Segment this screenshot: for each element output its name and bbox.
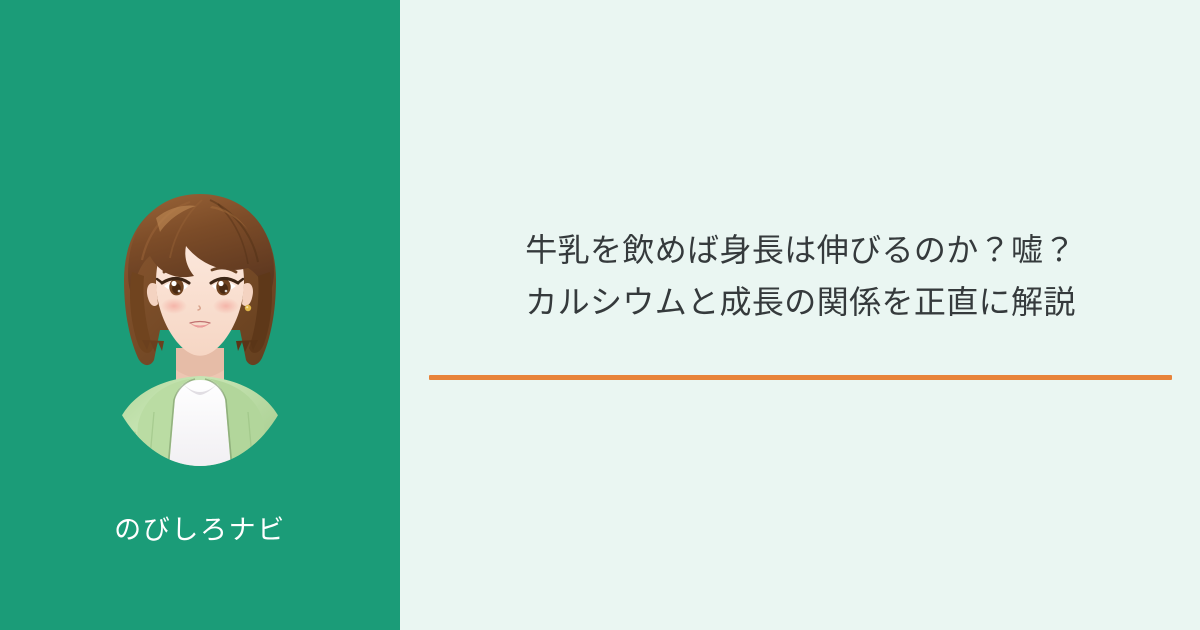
brand-panel: のびしろナビ [0, 0, 400, 630]
article-title: 牛乳を飲めば身長は伸びるのか？嘘？ カルシウムと成長の関係を正直に解説 [429, 225, 1172, 329]
article-title-line-1: 牛乳を飲めば身長は伸びるのか？嘘？ [429, 225, 1172, 277]
brand-name: のびしろナビ [0, 514, 400, 546]
article-title-line-2: カルシウムと成長の関係を正直に解説 [429, 277, 1172, 329]
female-character-avatar-icon [98, 180, 302, 466]
content-panel: 牛乳を飲めば身長は伸びるのか？嘘？ カルシウムと成長の関係を正直に解説 [400, 0, 1200, 630]
accent-divider [429, 375, 1172, 380]
ogp-card: のびしろナビ 牛乳を飲めば身長は伸びるのか？嘘？ カルシウムと成長の関係を正直に… [0, 0, 1200, 630]
